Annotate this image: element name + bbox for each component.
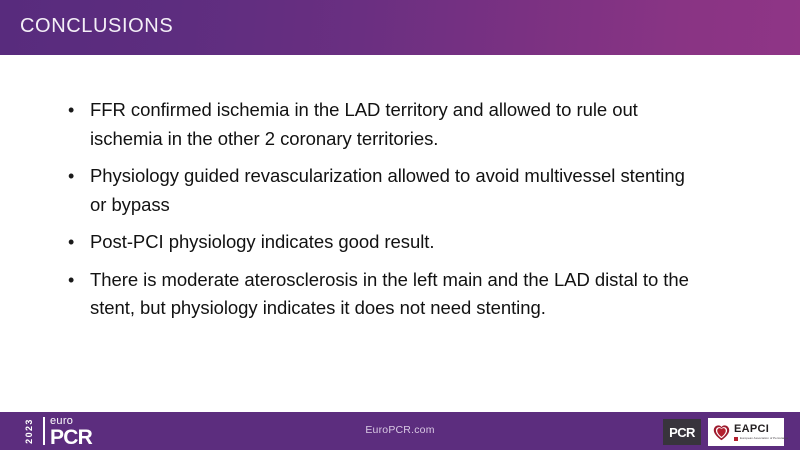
bullet-point-icon: • bbox=[66, 162, 90, 190]
eapci-logo-text-wrap: EAPCI European Association of Percutaneo… bbox=[734, 424, 788, 441]
eapci-logo-subtitle: European Association of Percutaneous Car… bbox=[740, 437, 788, 440]
list-item: • FFR confirmed ischemia in the LAD terr… bbox=[66, 96, 706, 153]
slide-body: • FFR confirmed ischemia in the LAD terr… bbox=[0, 55, 800, 412]
esc-square-icon bbox=[734, 437, 738, 441]
page-title: CONCLUSIONS bbox=[20, 15, 173, 38]
bullet-point-icon: • bbox=[66, 266, 90, 294]
eapci-logo-badge: EAPCI European Association of Percutaneo… bbox=[708, 418, 784, 446]
list-item-text: FFR confirmed ischemia in the LAD territ… bbox=[90, 96, 706, 153]
list-item-text: There is moderate aterosclerosis in the … bbox=[90, 266, 706, 323]
pcr-logo-badge: PCR bbox=[663, 419, 701, 445]
list-item-text: Post-PCI physiology indicates good resul… bbox=[90, 228, 706, 257]
bullet-point-icon: • bbox=[66, 228, 90, 256]
bullet-point-icon: • bbox=[66, 96, 90, 124]
eapci-logo-subtitle-row: European Association of Percutaneous Car… bbox=[734, 437, 788, 441]
pcr-logo-badge-text: PCR bbox=[669, 425, 695, 440]
list-item: • Physiology guided revascularization al… bbox=[66, 162, 706, 219]
slide-conclusions: CONCLUSIONS • FFR confirmed ischemia in … bbox=[0, 0, 800, 450]
heart-icon bbox=[712, 423, 731, 442]
eapci-logo-name: EAPCI bbox=[734, 424, 788, 435]
list-item: • There is moderate aterosclerosis in th… bbox=[66, 266, 706, 323]
list-item-text: Physiology guided revascularization allo… bbox=[90, 162, 706, 219]
list-item: • Post-PCI physiology indicates good res… bbox=[66, 228, 706, 257]
bullet-list: • FFR confirmed ischemia in the LAD terr… bbox=[66, 96, 706, 332]
